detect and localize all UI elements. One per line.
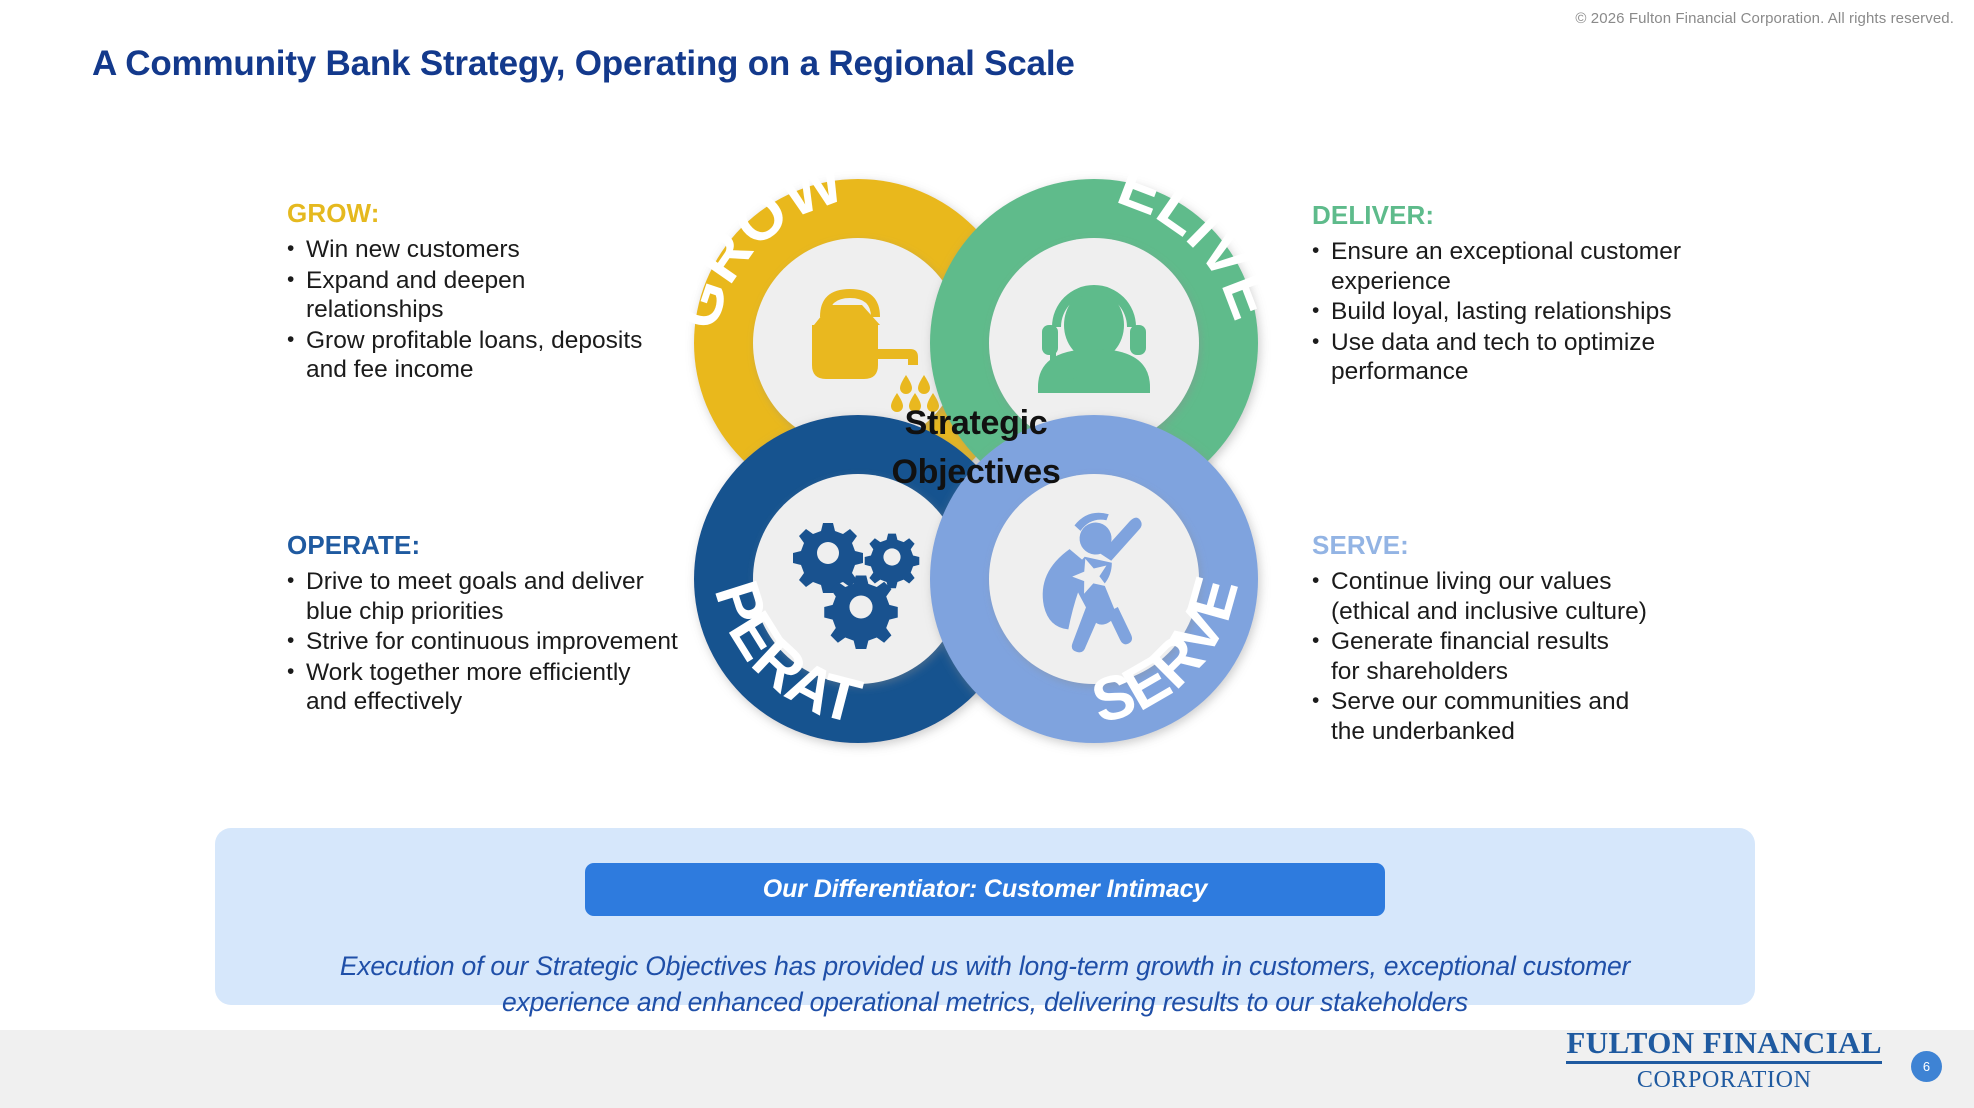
bullet-text-continued: experience: [1331, 267, 1712, 297]
bullet-text-continued: for shareholders: [1331, 657, 1712, 687]
list-item: Use data and tech to optimize performanc…: [1312, 328, 1712, 387]
page-title: A Community Bank Strategy, Operating on …: [92, 44, 1075, 84]
list-item: Strive for continuous improvement: [287, 627, 687, 657]
bullet-text: Continue living our values: [1331, 568, 1612, 595]
bullet-text: Strive for continuous improvement: [306, 628, 678, 655]
bullet-text-continued: blue chip priorities: [306, 597, 687, 627]
list-item: Ensure an exceptional customer experienc…: [1312, 237, 1712, 296]
block-heading-deliver: DELIVER:: [1312, 200, 1712, 231]
fulton-financial-logo: FULTON FINANCIAL CORPORATION: [1566, 1027, 1882, 1092]
bullet-text-continued: and effectively: [306, 687, 687, 717]
strategic-objectives-diagram: GROW DELIV: [662, 147, 1290, 775]
bullet-list-grow: Win new customers Expand and deepen rela…: [287, 235, 667, 385]
slide-root: © 2026 Fulton Financial Corporation. All…: [0, 0, 1974, 1108]
bullet-text: Ensure an exceptional customer: [1331, 238, 1681, 265]
list-item: Generate financial results for sharehold…: [1312, 627, 1712, 686]
bullet-text: Work together more efficiently: [306, 659, 631, 686]
differentiator-pill: Our Differentiator: Customer Intimacy: [585, 863, 1385, 916]
strategy-block-serve: SERVE: Continue living our values (ethic…: [1312, 530, 1712, 747]
block-heading-serve: SERVE:: [1312, 530, 1712, 561]
list-item: Win new customers: [287, 235, 667, 265]
logo-line-2: CORPORATION: [1566, 1064, 1882, 1092]
bullet-list-serve: Continue living our values (ethical and …: [1312, 567, 1712, 746]
list-item: Continue living our values (ethical and …: [1312, 567, 1712, 626]
bullet-text: Win new customers: [306, 236, 520, 263]
bullet-text-continued: (ethical and inclusive culture): [1331, 597, 1712, 627]
slide-footer: FULTON FINANCIAL CORPORATION 6: [0, 1030, 1974, 1108]
bullet-text-continued: performance: [1331, 357, 1712, 387]
block-heading-operate: OPERATE:: [287, 530, 687, 561]
bullet-text: Serve our communities and: [1331, 688, 1629, 715]
strategy-block-operate: OPERATE: Drive to meet goals and deliver…: [287, 530, 687, 718]
bullet-text: Generate financial results: [1331, 628, 1609, 655]
strategy-block-grow: GROW: Win new customers Expand and deepe…: [287, 198, 667, 386]
logo-line-1: FULTON FINANCIAL: [1566, 1027, 1882, 1064]
bullet-text: Grow profitable loans, deposits: [306, 327, 642, 354]
bullet-text-continued: and fee income: [306, 355, 667, 385]
bullet-list-deliver: Ensure an exceptional customer experienc…: [1312, 237, 1712, 387]
list-item: Grow profitable loans, deposits and fee …: [287, 326, 667, 385]
bullet-text: Use data and tech to optimize: [1331, 329, 1655, 356]
differentiator-pill-label: Our Differentiator: Customer Intimacy: [763, 875, 1208, 904]
bullet-list-operate: Drive to meet goals and deliver blue chi…: [287, 567, 687, 717]
bullet-text: Build loyal, lasting relationships: [1331, 298, 1671, 325]
bullet-text-continued: the underbanked: [1331, 717, 1712, 747]
bullet-text: Drive to meet goals and deliver: [306, 568, 644, 595]
strategy-block-deliver: DELIVER: Ensure an exceptional customer …: [1312, 200, 1712, 388]
list-item: Work together more efficiently and effec…: [287, 658, 687, 717]
callout-body-text: Execution of our Strategic Objectives ha…: [275, 948, 1695, 1020]
bullet-text: Expand and deepen relationships: [306, 267, 525, 324]
list-item: Drive to meet goals and deliver blue chi…: [287, 567, 687, 626]
block-heading-grow: GROW:: [287, 198, 667, 229]
list-item: Build loyal, lasting relationships: [1312, 297, 1712, 327]
copyright-notice: © 2026 Fulton Financial Corporation. All…: [1575, 10, 1954, 27]
list-item: Serve our communities and the underbanke…: [1312, 687, 1712, 746]
differentiator-callout: Our Differentiator: Customer Intimacy Ex…: [215, 828, 1755, 1005]
list-item: Expand and deepen relationships: [287, 266, 667, 325]
page-number-badge: 6: [1911, 1051, 1942, 1082]
